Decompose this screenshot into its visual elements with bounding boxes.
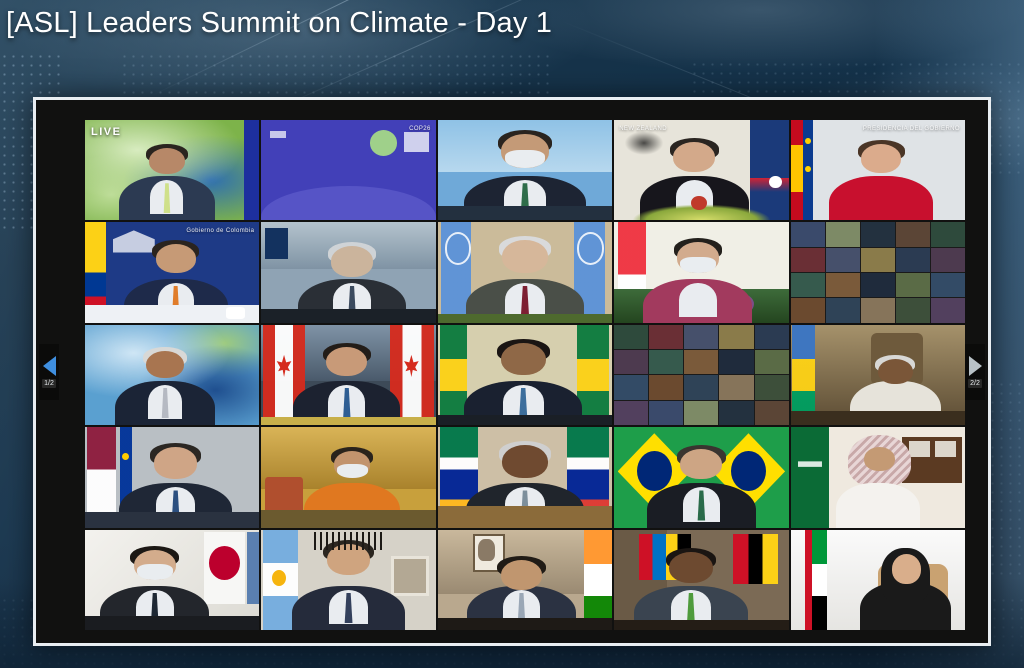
gallery-thumbnail[interactable] (861, 273, 895, 297)
gallery-thumbnail[interactable] (791, 298, 825, 322)
participant-video-feed (791, 222, 965, 322)
participant-tile[interactable] (261, 325, 435, 425)
gallery-thumbnail[interactable] (896, 222, 930, 246)
participant-video-feed (614, 427, 788, 527)
participant-video-feed (614, 222, 788, 322)
gallery-thumbnail[interactable] (719, 401, 753, 425)
gallery-thumbnail[interactable] (896, 273, 930, 297)
participant-video-feed (791, 427, 965, 527)
participant-tile[interactable] (614, 530, 788, 630)
gallery-thumbnail[interactable] (826, 248, 860, 272)
gallery-thumbnail[interactable] (649, 401, 683, 425)
participant-video-feed (261, 427, 435, 527)
gallery-thumbnail[interactable] (931, 298, 965, 322)
next-page-button[interactable]: 2/2 (965, 344, 985, 400)
page-indicator-next: 2/2 (968, 379, 982, 388)
participant-video-feed (614, 120, 788, 220)
participant-video-feed (261, 325, 435, 425)
gallery-thumbnail[interactable] (931, 273, 965, 297)
gallery-thumbnail[interactable] (614, 350, 648, 374)
participant-video-feed (438, 120, 612, 220)
gallery-thumbnail[interactable] (755, 375, 789, 399)
gallery-thumbnail[interactable] (649, 325, 683, 349)
gallery-thumbnail[interactable] (684, 401, 718, 425)
participant-tile[interactable] (791, 222, 965, 322)
participant-tile[interactable] (614, 427, 788, 527)
participant-tile[interactable] (614, 222, 788, 322)
gallery-thumbnail[interactable] (684, 350, 718, 374)
gallery-thumbnail[interactable] (719, 325, 753, 349)
gallery-thumbnail[interactable] (755, 325, 789, 349)
participant-grid: LIVECOP26NEW ZEALANDPRESIDENCIA DEL GOBI… (85, 120, 965, 630)
background-dot-pattern (120, 52, 550, 98)
prev-page-button[interactable]: 1/2 (39, 344, 59, 400)
participant-tile[interactable]: LIVE (85, 120, 259, 220)
participant-video-feed (261, 222, 435, 322)
gallery-thumbnail[interactable] (826, 273, 860, 297)
gallery-thumbnail[interactable] (861, 248, 895, 272)
participant-tile[interactable] (791, 427, 965, 527)
chevron-right-icon (969, 356, 982, 376)
gallery-thumbnail[interactable] (791, 222, 825, 246)
gallery-thumbnail[interactable] (649, 375, 683, 399)
gallery-thumbnail[interactable] (861, 298, 895, 322)
gallery-thumbnail[interactable] (614, 401, 648, 425)
participant-video-feed (261, 120, 435, 220)
gallery-thumbnail[interactable] (861, 222, 895, 246)
participant-tile[interactable]: COP26 (261, 120, 435, 220)
video-wall-inner: LIVECOP26NEW ZEALANDPRESIDENCIA DEL GOBI… (36, 100, 988, 643)
video-wall-screen: LIVECOP26NEW ZEALANDPRESIDENCIA DEL GOBI… (33, 97, 991, 646)
tile-watermark-text: NEW ZEALAND (619, 125, 667, 133)
participant-tile[interactable] (791, 530, 965, 630)
participant-video-feed (614, 530, 788, 630)
participant-video-feed (791, 325, 965, 425)
participant-video-feed (438, 427, 612, 527)
participant-tile[interactable] (614, 325, 788, 425)
participant-tile[interactable] (261, 427, 435, 527)
participant-tile[interactable]: PRESIDENCIA DEL GOBIERNO (791, 120, 965, 220)
gallery-thumbnail[interactable] (649, 350, 683, 374)
gallery-thumbnail[interactable] (931, 248, 965, 272)
gallery-thumbnail[interactable] (931, 222, 965, 246)
participant-tile[interactable] (261, 530, 435, 630)
participant-tile[interactable] (438, 325, 612, 425)
gallery-thumbnail[interactable] (896, 248, 930, 272)
participant-video-feed (85, 427, 259, 527)
participant-tile[interactable] (261, 222, 435, 322)
participant-video-feed (614, 325, 788, 425)
chevron-left-icon (43, 356, 56, 376)
gallery-thumbnail[interactable] (791, 273, 825, 297)
participant-video-feed (438, 325, 612, 425)
participant-video-feed (85, 222, 259, 322)
participant-video-feed (791, 120, 965, 220)
gallery-thumbnail[interactable] (826, 222, 860, 246)
participant-video-feed (438, 530, 612, 630)
gallery-thumbnail[interactable] (719, 375, 753, 399)
gallery-thumbnail[interactable] (755, 401, 789, 425)
participant-tile[interactable] (438, 530, 612, 630)
participant-tile[interactable] (85, 325, 259, 425)
gallery-thumbnail[interactable] (684, 325, 718, 349)
participant-tile[interactable]: Gobierno de Colombia (85, 222, 259, 322)
page-indicator-prev: 1/2 (42, 379, 56, 388)
participant-tile[interactable] (438, 427, 612, 527)
gallery-thumbnail[interactable] (719, 350, 753, 374)
page-title: [ASL] Leaders Summit on Climate - Day 1 (6, 7, 552, 40)
tile-watermark-text: Gobierno de Colombia (186, 227, 254, 235)
participant-tile[interactable] (85, 530, 259, 630)
participant-tile[interactable]: NEW ZEALAND (614, 120, 788, 220)
participant-video-feed (85, 325, 259, 425)
participant-video-feed (261, 530, 435, 630)
participant-video-feed (85, 530, 259, 630)
tile-watermark-text: PRESIDENCIA DEL GOBIERNO (863, 125, 960, 133)
participant-tile[interactable] (438, 120, 612, 220)
live-badge: LIVE (91, 126, 121, 138)
screenshot-stage: [ASL] Leaders Summit on Climate - Day 1 … (0, 0, 1024, 668)
participant-video-feed (438, 222, 612, 322)
gallery-thumbnail[interactable] (755, 350, 789, 374)
participant-video-feed (791, 530, 965, 630)
gallery-thumbnail[interactable] (896, 298, 930, 322)
gallery-thumbnail[interactable] (826, 298, 860, 322)
gallery-thumbnail[interactable] (684, 375, 718, 399)
participant-tile[interactable] (85, 427, 259, 527)
gallery-thumbnail[interactable] (614, 325, 648, 349)
participant-tile[interactable] (791, 325, 965, 425)
gallery-thumbnail[interactable] (614, 375, 648, 399)
gallery-thumbnail[interactable] (791, 248, 825, 272)
participant-tile[interactable] (438, 222, 612, 322)
tile-watermark-text: COP26 (409, 125, 431, 133)
